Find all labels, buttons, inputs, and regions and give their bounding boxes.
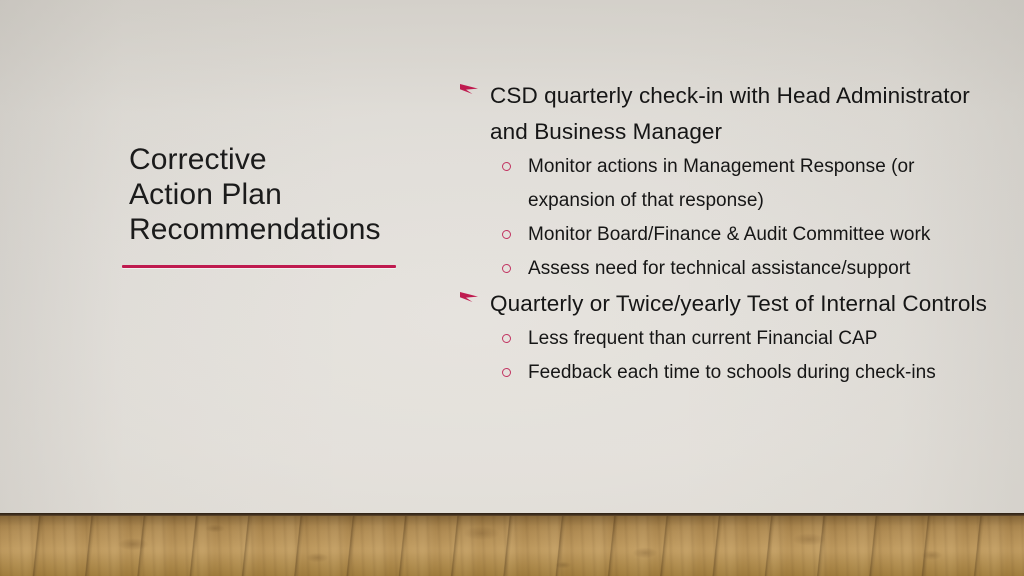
bullet-item-level1: CSD quarterly check-in with Head Adminis… bbox=[458, 78, 1006, 150]
bullet-text: Assess need for technical assistance/sup… bbox=[528, 258, 910, 279]
slide-title-line-3: Recommendations bbox=[129, 212, 419, 247]
circle-bullet-icon bbox=[502, 264, 511, 273]
bullet-text: Quarterly or Twice/yearly Test of Intern… bbox=[490, 291, 987, 316]
bullet-item-level1: Quarterly or Twice/yearly Test of Intern… bbox=[458, 286, 1006, 322]
circle-bullet-icon bbox=[502, 230, 511, 239]
slide-title-line-1: Corrective bbox=[129, 142, 419, 177]
bullet-item-level2: Less frequent than current Financial CAP bbox=[458, 322, 1006, 356]
circle-bullet-icon bbox=[502, 368, 511, 377]
title-underline-rule bbox=[122, 265, 396, 268]
floor-shading bbox=[0, 515, 1024, 576]
slide-title: Corrective Action Plan Recommendations bbox=[129, 142, 419, 247]
bullet-text: Feedback each time to schools during che… bbox=[528, 362, 936, 383]
bullet-item-level2: Monitor actions in Management Response (… bbox=[458, 150, 1006, 218]
arrow-bullet-icon bbox=[459, 82, 483, 106]
slide-title-line-2: Action Plan bbox=[129, 177, 419, 212]
wood-floor bbox=[0, 513, 1024, 576]
bullet-item-level2: Monitor Board/Finance & Audit Committee … bbox=[458, 218, 1006, 252]
bullet-item-level2: Assess need for technical assistance/sup… bbox=[458, 252, 1006, 286]
circle-bullet-icon bbox=[502, 334, 511, 343]
bullet-text: Less frequent than current Financial CAP bbox=[528, 328, 877, 349]
arrow-bullet-icon bbox=[459, 290, 483, 314]
bullet-item-level2: Feedback each time to schools during che… bbox=[458, 356, 1006, 390]
floor-wall-joint bbox=[0, 513, 1024, 516]
bullet-text: CSD quarterly check-in with Head Adminis… bbox=[490, 83, 970, 144]
circle-bullet-icon bbox=[502, 162, 511, 171]
bullet-text: Monitor actions in Management Response (… bbox=[528, 156, 915, 211]
slide-body-content: CSD quarterly check-in with Head Adminis… bbox=[458, 78, 1006, 390]
bullet-text: Monitor Board/Finance & Audit Committee … bbox=[528, 224, 930, 245]
presentation-slide: Corrective Action Plan Recommendations C… bbox=[0, 0, 1024, 576]
